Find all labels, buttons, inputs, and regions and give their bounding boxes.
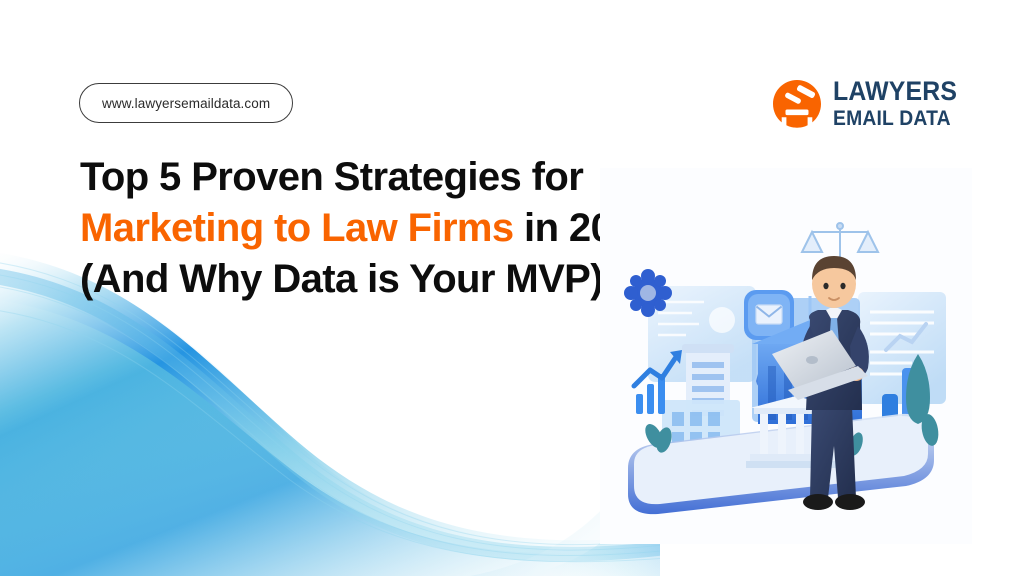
blog-banner: www.lawyersemaildata.com LAWYERS EMAIL D… xyxy=(0,0,1024,576)
headline-segment: (And Why Data is Your MVP) xyxy=(80,257,603,301)
brand-logo-line-2: EMAIL DATA xyxy=(833,108,957,129)
headline-accent-segment: Marketing to Law Firms xyxy=(80,206,514,250)
page-title: Top 5 Proven Strategies for Marketing to… xyxy=(80,152,680,305)
brand-logo-line-1: LAWYERS xyxy=(833,78,957,105)
gavel-chat-bubble-icon xyxy=(772,79,822,129)
website-url-pill[interactable]: www.lawyersemaildata.com xyxy=(79,83,293,123)
headline-segment: Top 5 Proven Strategies for xyxy=(80,155,583,199)
hero-illustration xyxy=(600,168,972,544)
headline-line-2: Marketing to Law Firms in 2026 xyxy=(80,203,680,254)
brand-logo[interactable]: LAWYERS EMAIL DATA xyxy=(772,78,968,129)
headline-line-3: (And Why Data is Your MVP) xyxy=(80,254,680,305)
brand-logo-wordmark: LAWYERS EMAIL DATA xyxy=(833,78,968,129)
website-url-text: www.lawyersemaildata.com xyxy=(102,96,270,111)
headline-line-1: Top 5 Proven Strategies for xyxy=(80,152,680,203)
